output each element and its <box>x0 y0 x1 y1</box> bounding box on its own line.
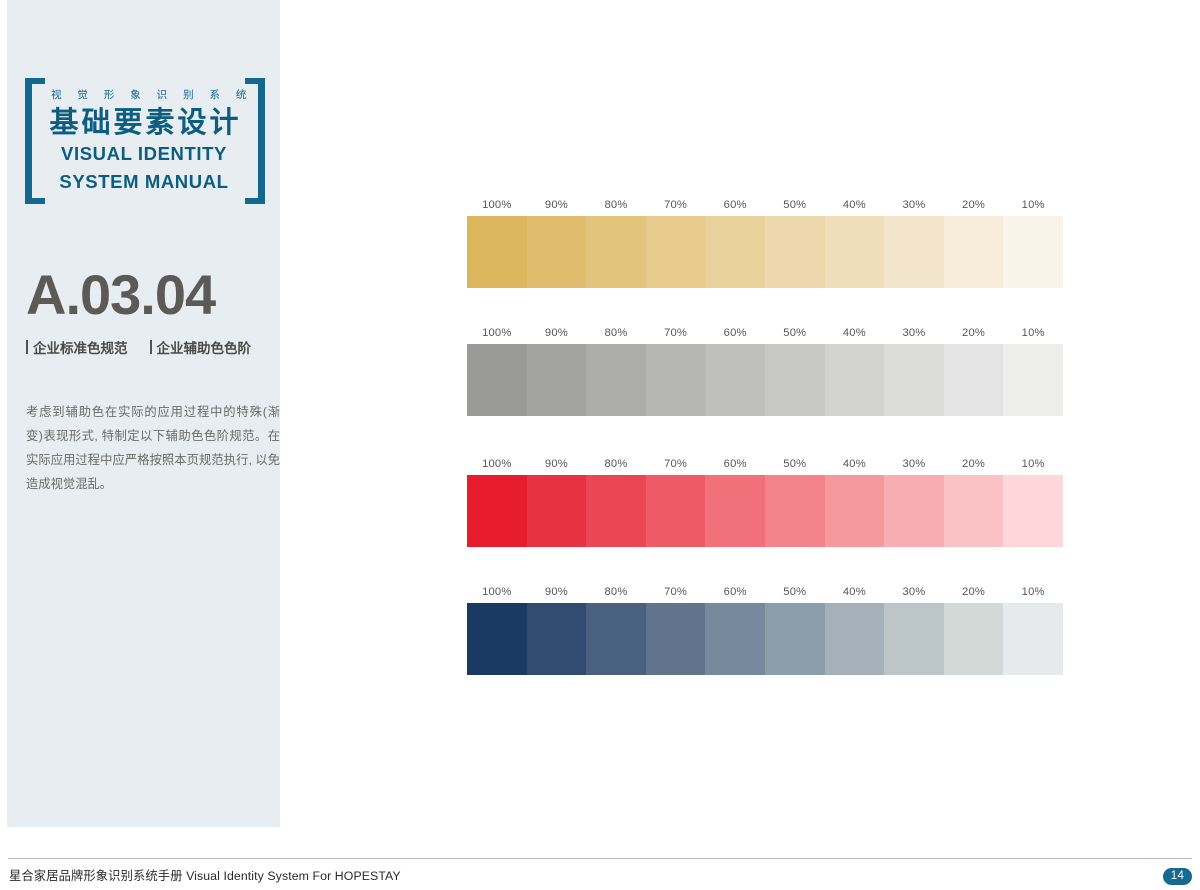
ramp-swatch-row <box>467 603 1063 675</box>
brand-block: 视 觉 形 象 识 别 系 统 基础要素设计 VISUAL IDENTITY S… <box>19 78 269 204</box>
color-swatch <box>586 344 646 416</box>
color-swatch <box>705 216 765 288</box>
color-swatch <box>884 216 944 288</box>
ramp-percent-label: 90% <box>527 586 587 598</box>
color-swatch <box>1003 344 1063 416</box>
ramp-percent-label: 50% <box>765 586 825 598</box>
ramp-percent-label: 70% <box>646 586 706 598</box>
ramp-percent-label: 30% <box>884 586 944 598</box>
ramp-percent-label: 100% <box>467 327 527 339</box>
ramp-percent-label: 10% <box>1003 458 1063 470</box>
sub-label-text: 企业辅助色色阶 <box>157 337 252 357</box>
footer-text: 星合家居品牌形象识别系统手册 Visual Identity System Fo… <box>9 866 401 884</box>
ramp-percent-label: 40% <box>825 458 885 470</box>
tick-mark-icon <box>26 340 28 354</box>
color-swatch <box>765 603 825 675</box>
ramp-percent-label: 10% <box>1003 199 1063 211</box>
ramp-percent-label: 70% <box>646 199 706 211</box>
ramp-percent-label: 90% <box>527 458 587 470</box>
color-swatch <box>646 344 706 416</box>
ramp-percent-label: 50% <box>765 199 825 211</box>
ramp-swatch-row <box>467 475 1063 547</box>
ramp-percent-label: 50% <box>765 458 825 470</box>
color-swatch <box>765 344 825 416</box>
color-swatch <box>586 475 646 547</box>
sub-label-text: 企业标准色规范 <box>33 337 128 357</box>
color-swatch <box>646 603 706 675</box>
ramp-percent-label: 20% <box>944 199 1004 211</box>
color-swatch <box>825 603 885 675</box>
color-swatch <box>884 603 944 675</box>
color-swatch <box>467 216 527 288</box>
page-root: 视 觉 形 象 识 别 系 统 基础要素设计 VISUAL IDENTITY S… <box>0 0 1200 890</box>
color-swatch <box>586 603 646 675</box>
ramp-percent-label: 30% <box>884 458 944 470</box>
color-swatch <box>884 344 944 416</box>
tick-mark-icon <box>150 340 152 354</box>
ramp-percent-label: 100% <box>467 458 527 470</box>
ramp-percent-label: 100% <box>467 586 527 598</box>
color-swatch <box>467 344 527 416</box>
section-code: A.03.04 <box>26 267 215 323</box>
ramp-percent-label: 80% <box>586 458 646 470</box>
ramp-percent-labels: 100%90%80%70%60%50%40%30%20%10% <box>467 194 1063 216</box>
color-swatch <box>705 603 765 675</box>
brand-kicker: 视 觉 形 象 识 别 系 统 <box>51 87 243 102</box>
color-swatch <box>1003 475 1063 547</box>
color-swatch <box>944 475 1004 547</box>
ramp-percent-label: 90% <box>527 199 587 211</box>
ramp-percent-label: 50% <box>765 327 825 339</box>
sidebar-panel: 视 觉 形 象 识 别 系 统 基础要素设计 VISUAL IDENTITY S… <box>7 0 280 827</box>
ramp-percent-label: 20% <box>944 586 1004 598</box>
color-swatch <box>944 216 1004 288</box>
ramp-percent-label: 20% <box>944 458 1004 470</box>
color-swatch <box>825 475 885 547</box>
color-swatch <box>825 344 885 416</box>
ramp-percent-label: 10% <box>1003 327 1063 339</box>
ramp-percent-label: 70% <box>646 327 706 339</box>
ramp-percent-label: 30% <box>884 199 944 211</box>
color-swatch <box>825 216 885 288</box>
color-swatch <box>527 216 587 288</box>
footer-divider <box>8 858 1192 859</box>
ramp-percent-label: 60% <box>705 586 765 598</box>
section-sub-labels: 企业标准色规范 企业辅助色色阶 <box>26 337 251 357</box>
color-swatch <box>944 603 1004 675</box>
color-ramp-navy: 100%90%80%70%60%50%40%30%20%10% <box>467 581 1063 675</box>
ramp-swatch-row <box>467 216 1063 288</box>
ramp-percent-label: 80% <box>586 586 646 598</box>
sub-label-standard-color: 企业标准色规范 <box>26 337 128 357</box>
ramp-percent-label: 100% <box>467 199 527 211</box>
color-ramp-area: 100%90%80%70%60%50%40%30%20%10% 100%90%8… <box>467 0 1063 890</box>
color-ramp-red: 100%90%80%70%60%50%40%30%20%10% <box>467 453 1063 547</box>
ramp-percent-label: 80% <box>586 199 646 211</box>
sub-label-auxiliary-color: 企业辅助色色阶 <box>150 337 252 357</box>
color-swatch <box>1003 216 1063 288</box>
brand-cn-title: 基础要素设计 <box>48 108 243 139</box>
ramp-percent-label: 80% <box>586 327 646 339</box>
brand-en-title-line1: VISUAL IDENTITY <box>45 142 243 167</box>
color-ramp-gray: 100%90%80%70%60%50%40%30%20%10% <box>467 322 1063 416</box>
ramp-percent-label: 40% <box>825 586 885 598</box>
color-swatch <box>1003 603 1063 675</box>
color-swatch <box>646 216 706 288</box>
ramp-percent-label: 60% <box>705 199 765 211</box>
ramp-percent-label: 60% <box>705 327 765 339</box>
page-number-badge: 14 <box>1163 868 1192 885</box>
color-swatch <box>467 475 527 547</box>
brand-en-title-line2: SYSTEM MANUAL <box>45 170 243 195</box>
color-swatch <box>527 475 587 547</box>
color-swatch <box>944 344 1004 416</box>
ramp-percent-labels: 100%90%80%70%60%50%40%30%20%10% <box>467 581 1063 603</box>
ramp-percent-labels: 100%90%80%70%60%50%40%30%20%10% <box>467 453 1063 475</box>
color-swatch <box>705 475 765 547</box>
color-swatch <box>646 475 706 547</box>
color-swatch <box>586 216 646 288</box>
color-swatch <box>527 344 587 416</box>
ramp-percent-label: 20% <box>944 327 1004 339</box>
ramp-percent-label: 90% <box>527 327 587 339</box>
color-swatch <box>467 603 527 675</box>
ramp-percent-label: 40% <box>825 199 885 211</box>
ramp-percent-label: 40% <box>825 327 885 339</box>
color-swatch <box>765 216 825 288</box>
ramp-percent-label: 70% <box>646 458 706 470</box>
color-swatch <box>765 475 825 547</box>
ramp-percent-label: 60% <box>705 458 765 470</box>
color-swatch <box>884 475 944 547</box>
ramp-percent-label: 10% <box>1003 586 1063 598</box>
color-swatch <box>527 603 587 675</box>
section-description: 考虑到辅助色在实际的应用过程中的特殊(渐变)表现形式, 特制定以下辅助色色阶规范… <box>26 401 280 497</box>
ramp-swatch-row <box>467 344 1063 416</box>
ramp-percent-labels: 100%90%80%70%60%50%40%30%20%10% <box>467 322 1063 344</box>
color-ramp-gold: 100%90%80%70%60%50%40%30%20%10% <box>467 194 1063 288</box>
ramp-percent-label: 30% <box>884 327 944 339</box>
color-swatch <box>705 344 765 416</box>
